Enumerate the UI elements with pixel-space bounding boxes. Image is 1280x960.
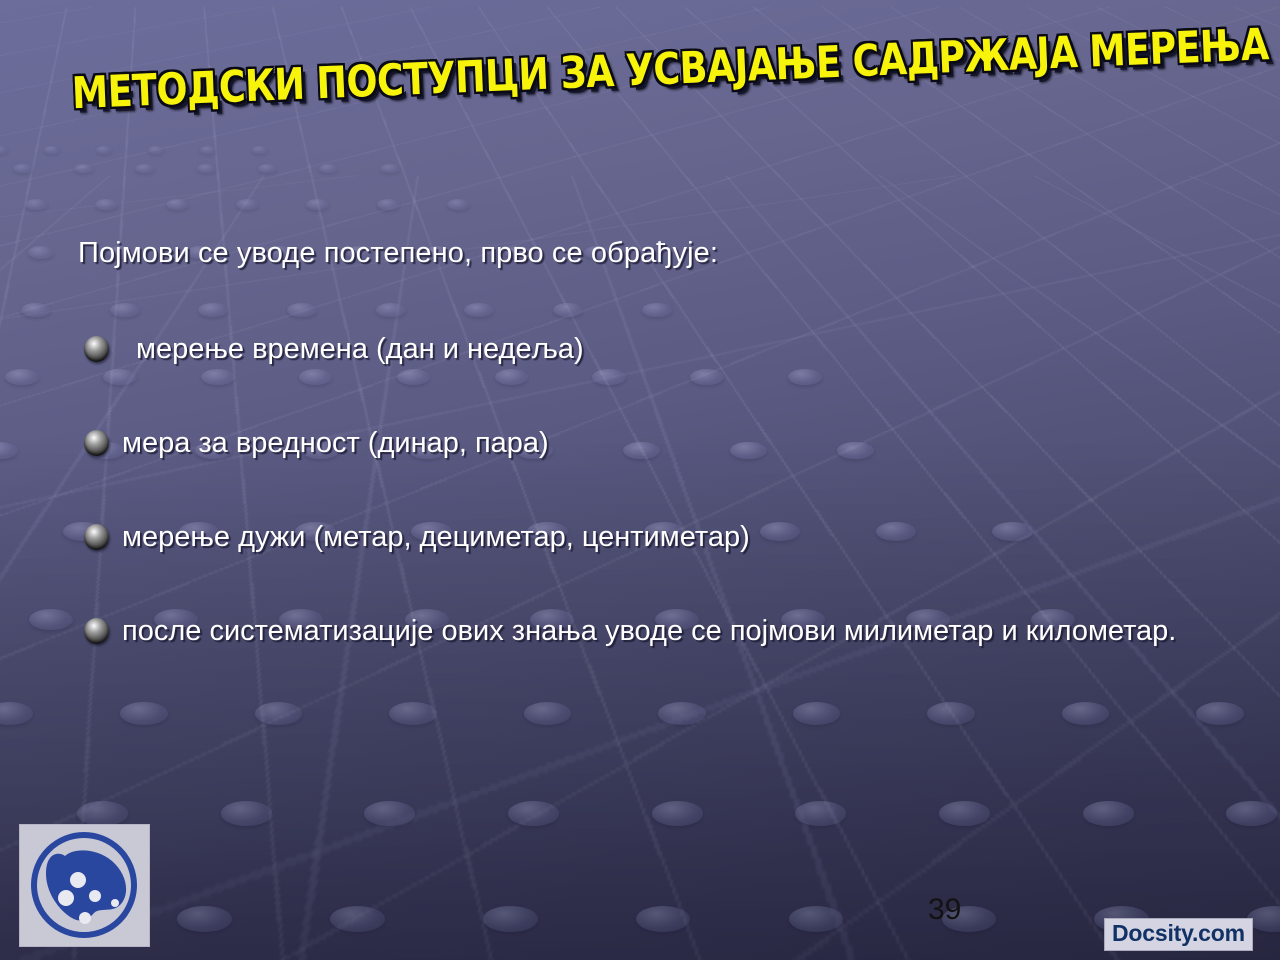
background-node (793, 702, 841, 725)
background-node (1196, 702, 1244, 725)
docsity-watermark[interactable]: Docsity.com (1104, 918, 1253, 951)
list-item: мера за вредност (динар, пара) (84, 424, 1234, 463)
background-node (319, 164, 339, 173)
ocarina-logo-graphic (20, 825, 149, 946)
background-node (447, 199, 470, 210)
background-node (28, 246, 55, 259)
background-node (197, 164, 217, 173)
background-node (221, 801, 272, 825)
background-vignette (0, 0, 1280, 960)
background-node (13, 164, 33, 173)
background-node (177, 906, 232, 932)
background-node (483, 906, 538, 932)
background-node (299, 369, 333, 385)
background-node (166, 199, 189, 210)
list-item-label: мера за вредност (динар, пара) (122, 424, 1234, 463)
ocarina-logo-icon (19, 824, 150, 947)
background-node (236, 199, 259, 210)
background-node (524, 702, 572, 725)
background-node (252, 146, 268, 154)
sphere-bullet-icon (84, 524, 109, 550)
background-node (5, 369, 39, 385)
background-node (0, 702, 33, 725)
sphere-bullet-icon (84, 618, 109, 644)
slide-background (0, 0, 1280, 960)
background-node (200, 146, 216, 154)
background-node (74, 164, 94, 173)
background-node (652, 801, 703, 825)
background-node (939, 801, 990, 825)
background-node (364, 801, 415, 825)
background-node (508, 801, 559, 825)
background-node (77, 801, 128, 825)
background-node (44, 146, 60, 154)
slide-title: МЕТОДСКИ ПОСТУПЦИ ЗА УСВАЈАЊЕ САДРЖАЈА М… (72, 72, 1192, 134)
background-node (95, 199, 118, 210)
presentation-slide: МЕТОДСКИ ПОСТУПЦИ ЗА УСВАЈАЊЕ САДРЖАЈА М… (0, 0, 1280, 960)
list-item: мерење времена (дан и недеља) (84, 330, 1234, 369)
background-node (1083, 801, 1134, 825)
background-node (201, 369, 235, 385)
background-node (287, 303, 317, 317)
background-node (198, 303, 228, 317)
background-node (377, 199, 400, 210)
background-node (255, 702, 303, 725)
background-node (1062, 702, 1110, 725)
background-node (553, 303, 583, 317)
background-node (258, 164, 278, 173)
list-item: после систематизације ових знања уводе с… (84, 612, 1234, 651)
background-node (788, 369, 822, 385)
background-node (1226, 801, 1277, 825)
background-node (380, 164, 400, 173)
list-item-label: мерење дужи (метар, дециметар, центимета… (122, 518, 1234, 557)
background-node (306, 199, 329, 210)
sphere-bullet-icon (84, 336, 109, 362)
background-node (0, 442, 18, 460)
list-item: мерење дужи (метар, дециметар, центимета… (84, 518, 1234, 557)
background-node (103, 369, 137, 385)
background-node (642, 303, 672, 317)
background-node (376, 303, 406, 317)
background-node (96, 146, 112, 154)
sphere-bullet-icon (84, 430, 109, 456)
background-node (397, 369, 431, 385)
background-grid-pattern (0, 0, 1280, 7)
background-node (120, 702, 168, 725)
background-node (464, 303, 494, 317)
list-item-label: мерење времена (дан и недеља) (122, 330, 1234, 369)
background-node (110, 303, 140, 317)
background-node (690, 369, 724, 385)
page-number: 39 (928, 893, 961, 927)
background-node (592, 369, 626, 385)
background-node (658, 702, 706, 725)
list-item-label: после систематизације ових знања уводе с… (122, 612, 1234, 651)
slide-title-wordart: МЕТОДСКИ ПОСТУПЦИ ЗА УСВАЈАЊЕ САДРЖАЈА М… (71, 0, 1280, 119)
background-node (135, 164, 155, 173)
background-node (789, 906, 844, 932)
background-node (21, 303, 51, 317)
background-node (636, 906, 691, 932)
background-node (795, 801, 846, 825)
background-node (927, 702, 975, 725)
background-node (495, 369, 529, 385)
background-node (148, 146, 164, 154)
background-node (29, 609, 73, 630)
lead-paragraph: Појмови се уводе постепено, прво се обра… (78, 234, 1178, 272)
background-node (389, 702, 437, 725)
background-node (0, 146, 8, 154)
background-node (25, 199, 48, 210)
background-node (330, 906, 385, 932)
